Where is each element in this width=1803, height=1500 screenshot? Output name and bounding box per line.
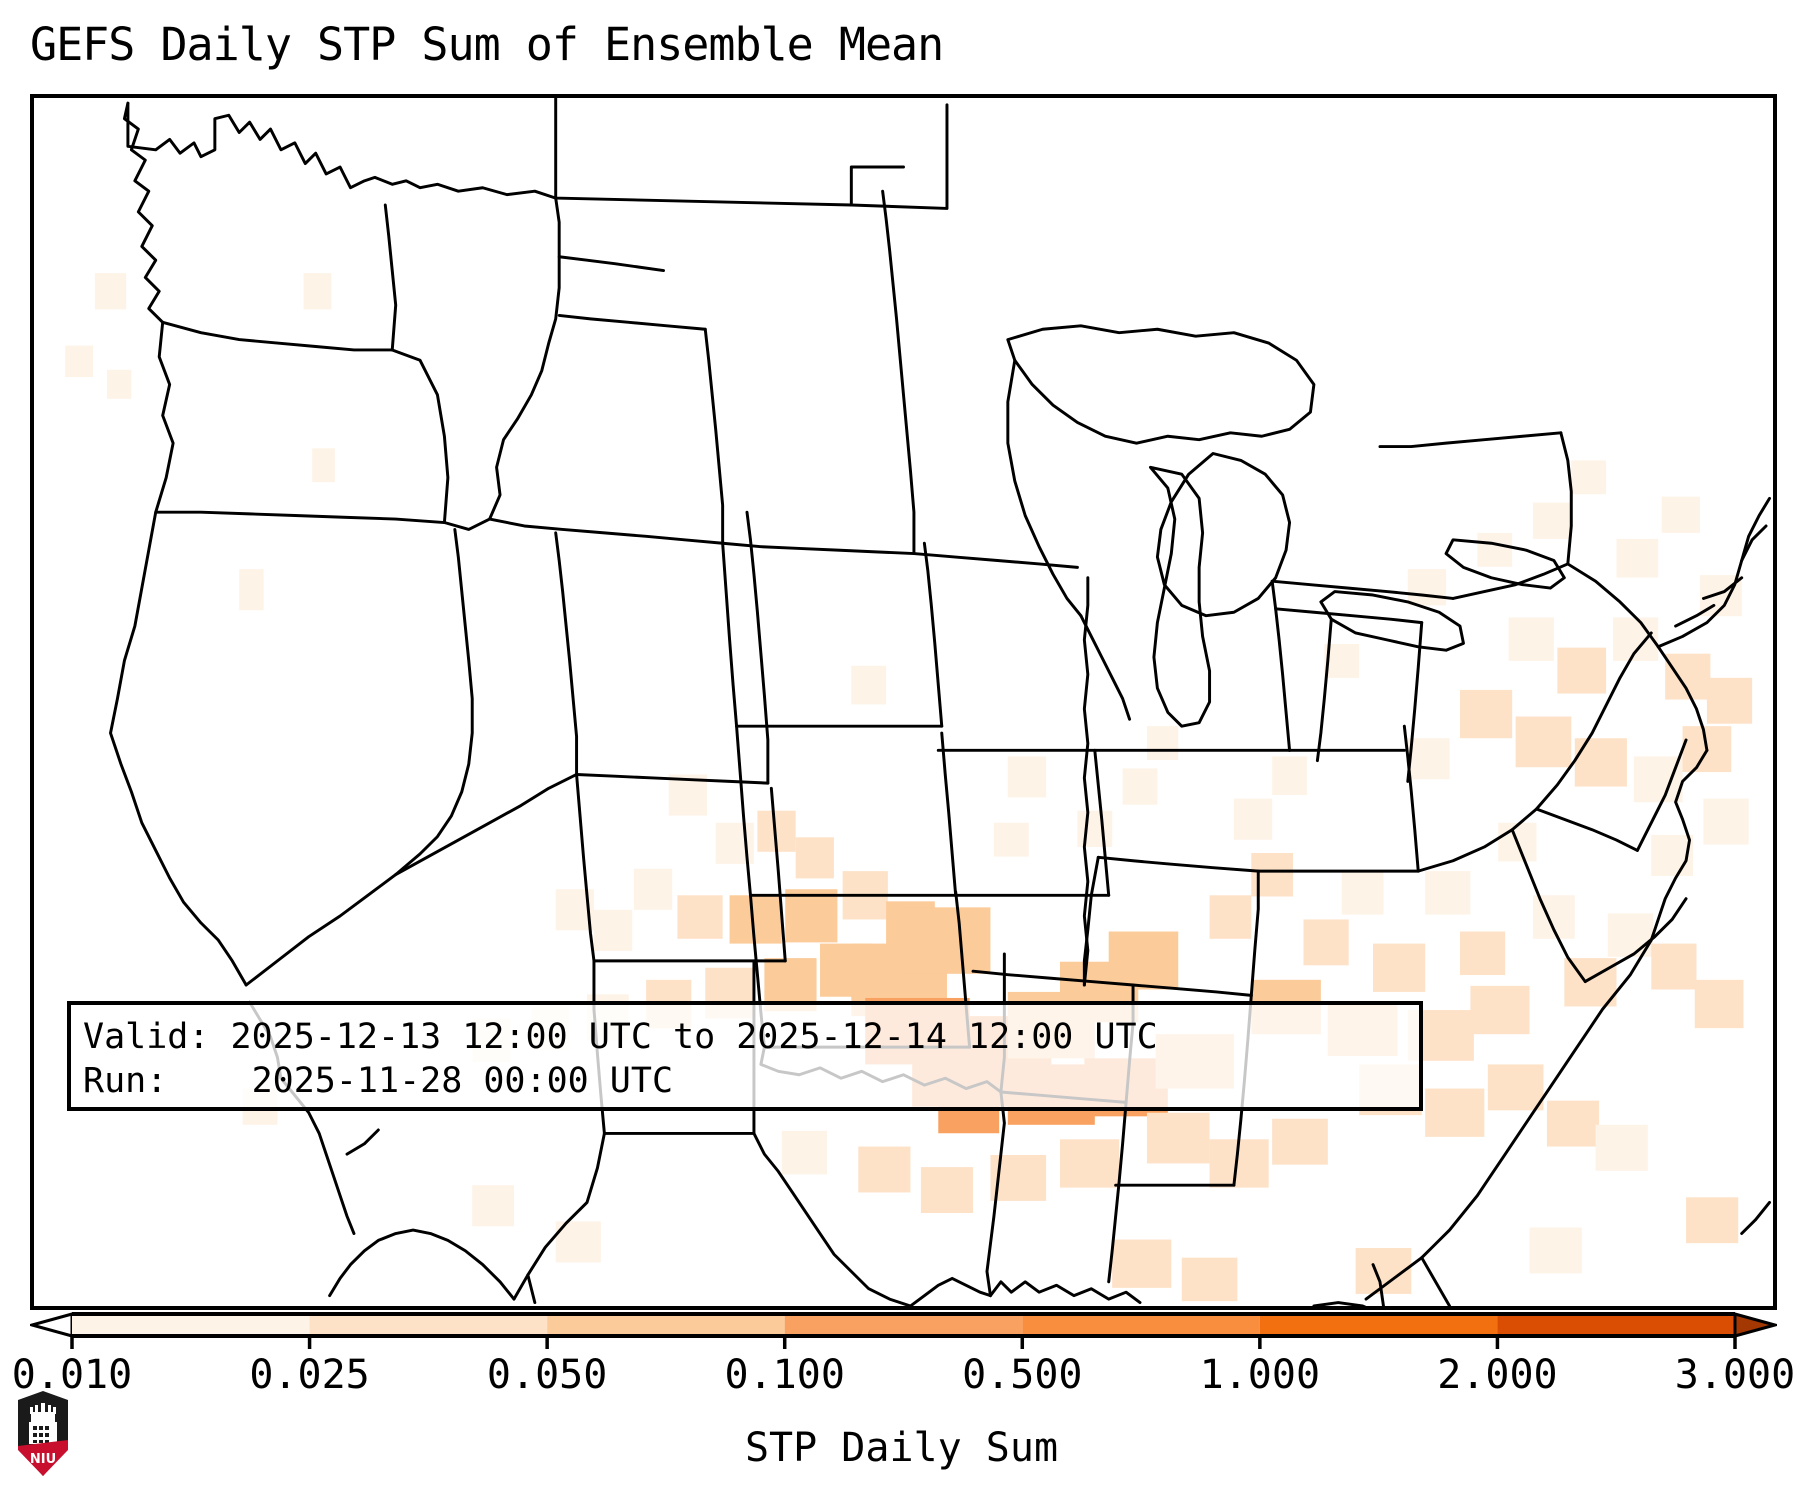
colorbar-tick-labels: 0.0100.0250.0500.1000.5001.0002.0003.000	[30, 1352, 1777, 1402]
colorbar-band	[72, 1314, 310, 1336]
colorbar-axis-label: STP Daily Sum	[0, 1425, 1803, 1471]
info-annotation-box: Valid: 2025-12-13 12:00 UTC to 2025-12-1…	[67, 1001, 1423, 1111]
colorbar-tick-label: 1.000	[1200, 1352, 1320, 1398]
colorbar-band	[1497, 1314, 1735, 1336]
page-title: GEFS Daily STP Sum of Ensemble Mean	[30, 18, 943, 71]
colorbar-tick-label: 0.025	[249, 1352, 369, 1398]
colorbar-band	[1260, 1314, 1498, 1336]
colorbar: 0.0100.0250.0500.1000.5001.0002.0003.000	[30, 1312, 1777, 1374]
colorbar-max-arrow	[1735, 1314, 1775, 1336]
colorbar-min-arrow	[32, 1314, 72, 1336]
map-panel: Valid: 2025-12-13 12:00 UTC to 2025-12-1…	[30, 94, 1777, 1310]
colorbar-band	[785, 1314, 1023, 1336]
colorbar-tick-label: 0.500	[962, 1352, 1082, 1398]
colorbar-tick-label: 0.050	[487, 1352, 607, 1398]
colorbar-band	[310, 1314, 548, 1336]
colorbar-tick-label: 3.000	[1675, 1352, 1795, 1398]
colorbar-band	[1022, 1314, 1260, 1336]
colorbar-tick-label: 2.000	[1437, 1352, 1557, 1398]
colorbar-band	[547, 1314, 785, 1336]
valid-time-line: Valid: 2025-12-13 12:00 UTC to 2025-12-1…	[83, 1015, 1419, 1059]
colorbar-gradient	[30, 1312, 1777, 1352]
colorbar-tick-label: 0.100	[724, 1352, 844, 1398]
figure-root: GEFS Daily STP Sum of Ensemble Mean	[0, 0, 1803, 1500]
run-time-line: Run: 2025-11-28 00:00 UTC	[83, 1059, 1419, 1103]
niu-logo: NIU	[14, 1390, 72, 1480]
map-outlines-layer	[34, 98, 1773, 1306]
niu-logo-text: NIU	[30, 1452, 56, 1467]
